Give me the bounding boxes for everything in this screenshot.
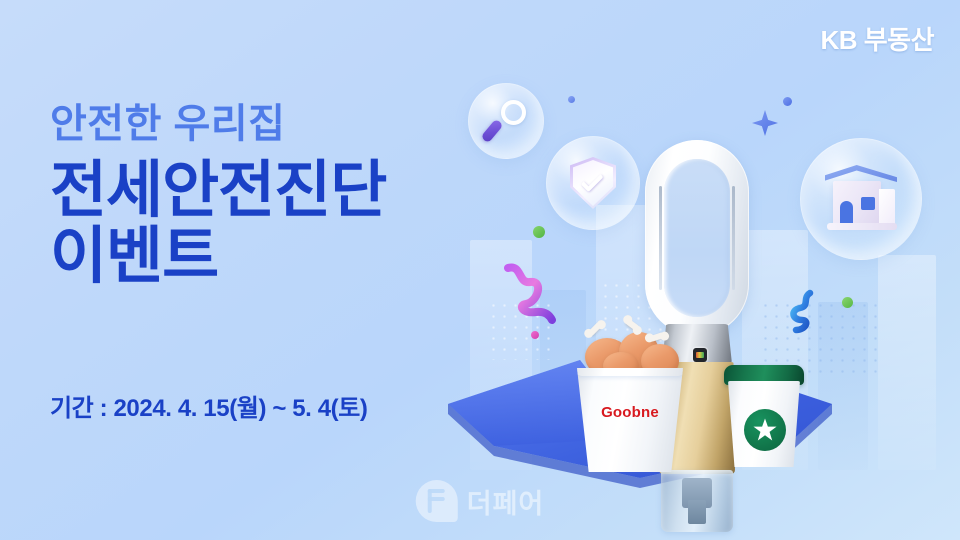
house-base xyxy=(827,223,897,230)
fried-chicken-pile xyxy=(579,322,681,378)
building-silhouette xyxy=(742,230,808,470)
purifier-display xyxy=(693,348,707,362)
blue-dot xyxy=(568,96,575,103)
house-window xyxy=(861,197,875,210)
headline-line-1: 전세안전진단 xyxy=(50,156,386,225)
chicken-piece xyxy=(619,332,659,372)
pink-dot xyxy=(531,331,539,339)
house-bubble xyxy=(800,138,922,260)
chicken-bone xyxy=(587,321,602,337)
event-banner: KB 부동산 안전한 우리집 전세안전진단 이벤트 기간 : 2024. 4. … xyxy=(0,0,960,540)
green-dot xyxy=(533,226,545,238)
hero-headline: 전세안전진단 이벤트 xyxy=(50,158,386,289)
house-icon xyxy=(821,165,901,233)
chicken-piece xyxy=(603,352,639,380)
cup-body xyxy=(728,381,800,467)
headline-line-2: 이벤트 xyxy=(50,224,386,290)
blue-star-platform xyxy=(0,320,960,540)
dot-pattern xyxy=(760,300,880,380)
four-point-star-icon xyxy=(752,110,778,136)
goobne-chicken-bucket: Goobne xyxy=(577,368,683,472)
building-silhouette xyxy=(878,255,936,470)
purifier-loop xyxy=(645,140,749,336)
magnifier-bubble xyxy=(468,83,544,159)
purifier-gold-body xyxy=(659,362,735,474)
magnifier-icon xyxy=(484,99,528,143)
cup-lid xyxy=(724,365,804,385)
purifier-neck xyxy=(662,324,732,364)
purifier-water-tank xyxy=(661,470,733,532)
air-purifier-fan xyxy=(645,140,755,336)
platform-svg xyxy=(430,342,850,492)
building-silhouette xyxy=(676,270,730,470)
blue-ribbon-confetti xyxy=(784,290,826,336)
magnifier-ring xyxy=(501,100,526,125)
house-body xyxy=(833,181,881,225)
house-door xyxy=(840,201,853,225)
magnifier-handle xyxy=(480,119,503,144)
hero-copy: 안전한 우리집 전세안전진단 이벤트 xyxy=(50,104,386,289)
bucket-rim xyxy=(574,359,686,376)
house-side-wall xyxy=(879,189,895,225)
purple-ribbon-confetti xyxy=(500,262,560,324)
shield-check-icon xyxy=(570,157,616,209)
blue-dot xyxy=(783,97,792,106)
f-mark-logo-icon xyxy=(416,480,458,522)
building-silhouette xyxy=(818,302,868,470)
watermark-text: 더페어 xyxy=(467,482,545,521)
bucket-brand-label: Goobne xyxy=(577,404,683,421)
chicken-bone xyxy=(648,332,665,343)
star-coffee-logo xyxy=(744,409,786,451)
building-silhouette xyxy=(540,290,586,470)
chicken-bone xyxy=(625,318,641,332)
bucket-body: Goobne xyxy=(577,368,683,472)
purifier-air-slot xyxy=(732,186,735,290)
building-silhouette xyxy=(596,205,666,470)
house-roof xyxy=(825,165,897,199)
hero-subtitle: 안전한 우리집 xyxy=(50,104,386,144)
thefair-watermark: 더페어 xyxy=(416,480,545,522)
shield-bubble xyxy=(546,136,640,230)
green-dot xyxy=(842,297,853,308)
dot-pattern xyxy=(600,280,710,350)
event-period-text: 기간 : 2024. 4. 15(월) ~ 5. 4(토) xyxy=(50,388,368,423)
check-mark xyxy=(580,169,603,192)
purifier-air-slot xyxy=(659,186,662,290)
building-silhouette xyxy=(470,240,532,470)
star-icon xyxy=(753,418,777,442)
chicken-piece xyxy=(641,344,679,378)
kb-brand-logo[interactable]: KB 부동산 xyxy=(820,20,934,57)
chicken-piece xyxy=(585,338,629,376)
dot-pattern xyxy=(488,300,558,360)
